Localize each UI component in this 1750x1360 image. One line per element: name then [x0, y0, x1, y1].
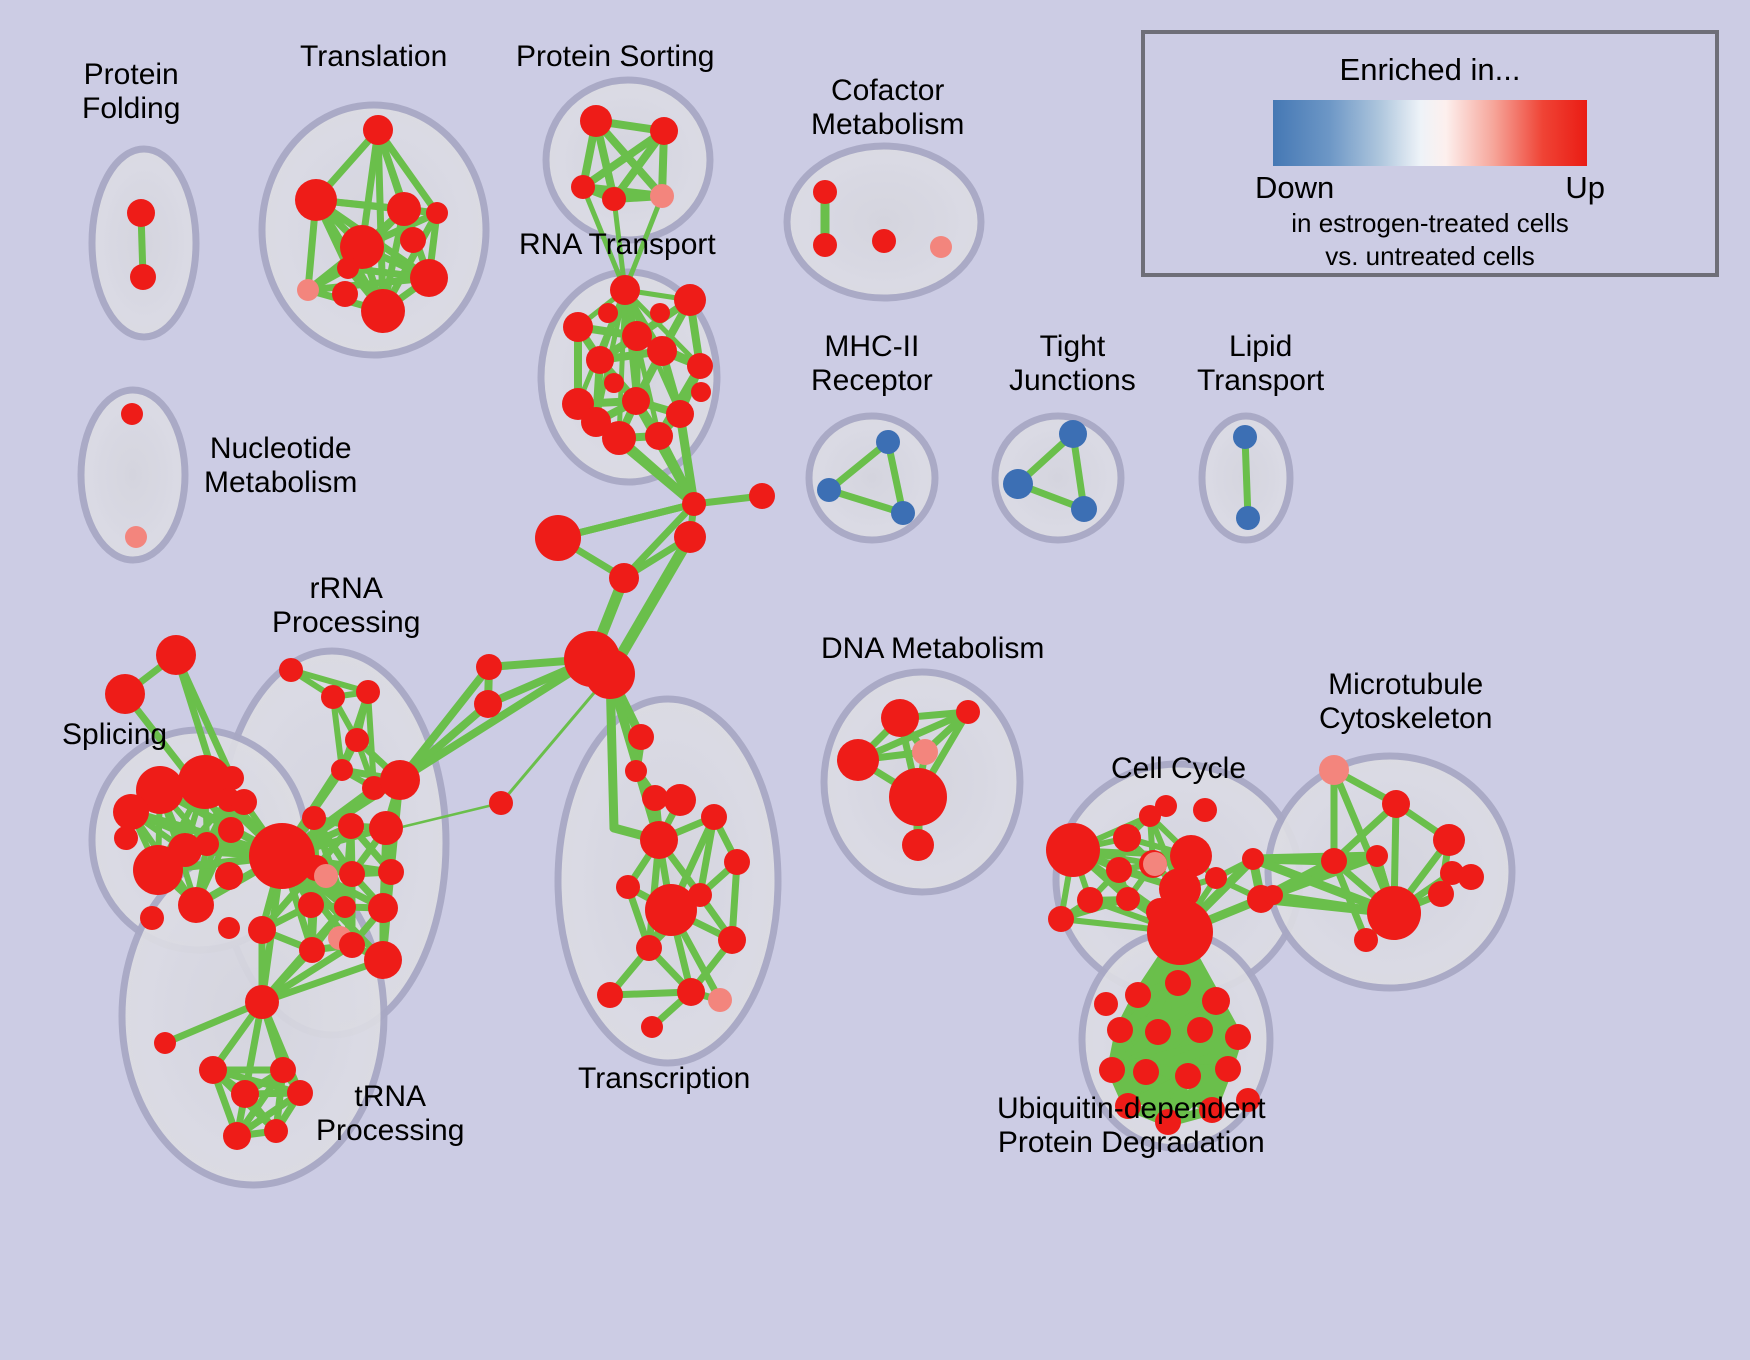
node [356, 680, 380, 704]
node [1147, 899, 1213, 965]
node [298, 892, 324, 918]
node [114, 826, 138, 850]
node [609, 563, 639, 593]
node [666, 400, 694, 428]
node [650, 303, 670, 323]
node [598, 303, 618, 323]
node [339, 932, 365, 958]
node [334, 896, 356, 918]
node [674, 284, 706, 316]
node [749, 483, 775, 509]
legend-caption-line1: in estrogen-treated cells [1145, 208, 1715, 239]
hull-mhc2 [809, 416, 935, 540]
node [140, 906, 164, 930]
node [133, 845, 183, 895]
node [602, 421, 636, 455]
node [1199, 1097, 1225, 1123]
legend-caption-line2: vs. untreated cells [1145, 241, 1715, 272]
node [218, 917, 240, 939]
node [1354, 928, 1378, 952]
node [881, 699, 919, 737]
node [245, 985, 279, 1019]
node [223, 1122, 251, 1150]
node [645, 884, 697, 936]
legend-low-label: Down [1255, 170, 1334, 206]
legend-panel: Enriched in... Down Up in estrogen-treat… [1141, 30, 1719, 277]
node [1215, 1056, 1241, 1082]
node [1071, 496, 1097, 522]
node [369, 811, 403, 845]
node [264, 1119, 288, 1143]
node [1116, 887, 1140, 911]
node [580, 105, 612, 137]
node [314, 864, 338, 888]
node [622, 387, 650, 415]
node [1236, 506, 1260, 530]
node [1236, 1088, 1260, 1112]
node [231, 789, 257, 815]
node [902, 829, 934, 861]
node [1428, 881, 1454, 907]
node [610, 275, 640, 305]
node [363, 115, 393, 145]
node [813, 233, 837, 257]
node [297, 279, 319, 301]
node [813, 180, 837, 204]
node [682, 492, 706, 516]
network-figure: .hull{fill:url(#cg);stroke:#a8a8c4;strok… [0, 0, 1750, 1360]
node [708, 988, 732, 1012]
node [338, 813, 364, 839]
node [889, 768, 947, 826]
node [1433, 824, 1465, 856]
node [332, 281, 358, 307]
node [1366, 845, 1388, 867]
node [195, 832, 219, 856]
node [364, 941, 402, 979]
node [1107, 1017, 1133, 1043]
node [361, 289, 405, 333]
node [125, 526, 147, 548]
node [1113, 824, 1141, 852]
node [616, 875, 640, 899]
node [956, 700, 980, 724]
node [642, 785, 668, 811]
node [199, 1056, 227, 1084]
node [1155, 1109, 1181, 1135]
node [218, 817, 244, 843]
node [1094, 992, 1118, 1016]
node [178, 887, 214, 923]
node [337, 257, 359, 279]
node [387, 192, 421, 226]
node [585, 649, 635, 699]
node [535, 515, 581, 561]
node [563, 312, 593, 342]
node [604, 373, 624, 393]
node [410, 259, 448, 297]
node [602, 187, 626, 211]
node [248, 916, 276, 944]
node [647, 336, 677, 366]
node [1145, 1019, 1171, 1045]
node [231, 1080, 259, 1108]
node [121, 403, 143, 425]
node [650, 184, 674, 208]
node [1225, 1024, 1251, 1050]
node [1202, 987, 1230, 1015]
node [691, 382, 711, 402]
node [876, 430, 900, 454]
node [597, 982, 623, 1008]
node [113, 794, 149, 830]
node [1125, 982, 1151, 1008]
node [872, 229, 896, 253]
node [279, 658, 303, 682]
node [636, 935, 662, 961]
node [215, 862, 243, 890]
node [1458, 864, 1484, 890]
node [687, 353, 713, 379]
node [380, 760, 420, 800]
node [1077, 887, 1103, 913]
node [1242, 848, 1264, 870]
node [400, 227, 426, 253]
node [287, 1080, 313, 1106]
node [1165, 970, 1191, 996]
node [645, 422, 673, 450]
node [1106, 857, 1132, 883]
node [891, 501, 915, 525]
node [474, 690, 502, 718]
node [345, 728, 369, 752]
node [1193, 798, 1217, 822]
node [156, 635, 196, 675]
node [718, 926, 746, 954]
legend-color-gradient-bar [1273, 100, 1587, 166]
node [1048, 906, 1074, 932]
node [571, 175, 595, 199]
node [295, 179, 337, 221]
node [1175, 1063, 1201, 1089]
node [476, 654, 502, 680]
node [1155, 795, 1177, 817]
node [586, 346, 614, 374]
node [1263, 885, 1283, 905]
node [1059, 420, 1087, 448]
node [724, 849, 750, 875]
node [1115, 1093, 1141, 1119]
node [302, 806, 326, 830]
node [1233, 425, 1257, 449]
node [426, 202, 448, 224]
node [154, 1032, 176, 1054]
node [130, 264, 156, 290]
node [489, 791, 513, 815]
node [1382, 790, 1410, 818]
node [368, 893, 398, 923]
node [664, 784, 696, 816]
node [677, 978, 705, 1006]
node [299, 937, 325, 963]
node [1187, 1017, 1213, 1043]
node [1143, 852, 1167, 876]
node [1367, 886, 1421, 940]
node [249, 823, 315, 889]
node [641, 1016, 663, 1038]
node [331, 759, 353, 781]
node [105, 674, 145, 714]
node [930, 236, 952, 258]
node [640, 821, 678, 859]
node [1321, 848, 1347, 874]
node [1099, 1057, 1125, 1083]
node [625, 760, 647, 782]
node [650, 117, 678, 145]
node [1003, 469, 1033, 499]
legend-title: Enriched in... [1145, 52, 1715, 88]
node [339, 861, 365, 887]
node [674, 521, 706, 553]
node [622, 321, 652, 351]
node [817, 478, 841, 502]
node [270, 1057, 296, 1083]
node [1046, 823, 1100, 877]
node [1205, 867, 1227, 889]
hull-cofactor [787, 146, 981, 298]
node [912, 739, 938, 765]
node [1319, 755, 1349, 785]
node [1133, 1059, 1159, 1085]
node [701, 804, 727, 830]
legend-high-label: Up [1565, 170, 1605, 206]
node [628, 724, 654, 750]
node [321, 685, 345, 709]
node [127, 199, 155, 227]
node [837, 739, 879, 781]
node [378, 859, 404, 885]
